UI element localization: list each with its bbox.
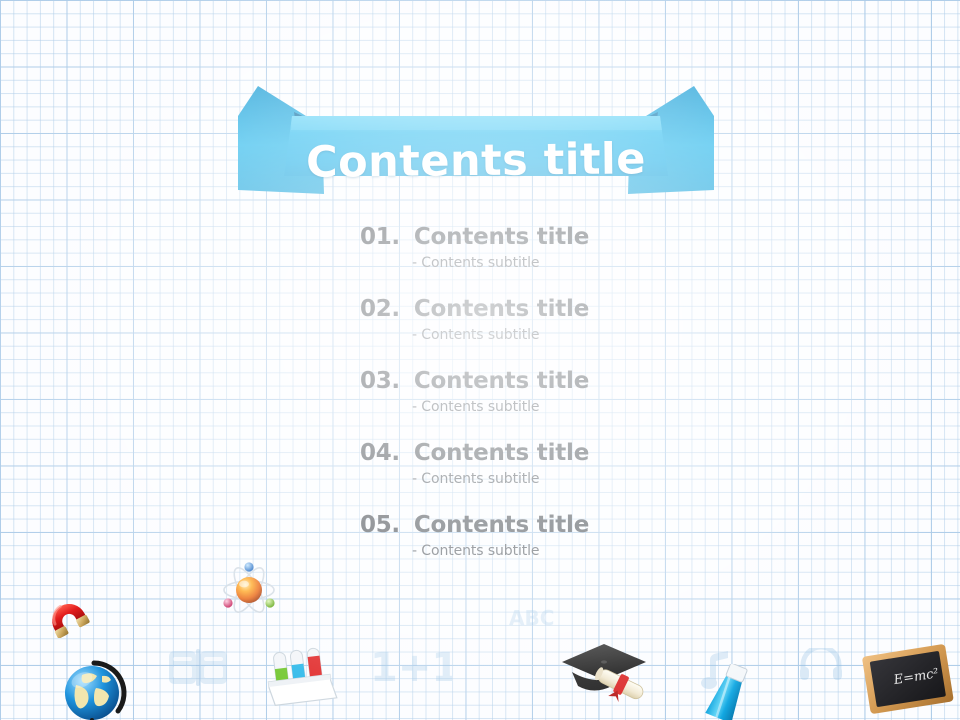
svg-text:1+1: 1+1 <box>370 645 452 691</box>
list-item[interactable]: 01. Contents title - Contents subtitle <box>360 224 780 271</box>
list-item-head: 01. Contents title <box>360 224 780 250</box>
list-item[interactable]: 04. Contents title - Contents subtitle <box>360 440 780 487</box>
list-item-subtitle: - Contents subtitle <box>412 471 780 487</box>
list-item-subtitle: - Contents subtitle <box>412 543 780 559</box>
list-item-title: Contents title <box>414 440 589 466</box>
ribbon-title: Contents title <box>235 95 716 225</box>
list-item-title: Contents title <box>414 296 589 322</box>
graduation-cap-icon <box>560 638 648 715</box>
list-item-subtitle: - Contents subtitle <box>412 255 780 271</box>
list-item[interactable]: 05. Contents title - Contents subtitle <box>360 512 780 559</box>
list-item-head: 05. Contents title <box>360 512 780 538</box>
svg-text:ABC: ABC <box>509 606 554 630</box>
list-item-number: 04. <box>360 440 400 466</box>
test-tubes-icon <box>264 644 338 715</box>
list-item-title: Contents title <box>414 224 589 250</box>
list-item-number: 05. <box>360 512 400 538</box>
list-item-title: Contents title <box>414 368 589 394</box>
list-item-head: 03. Contents title <box>360 368 780 394</box>
list-item[interactable]: 03. Contents title - Contents subtitle <box>360 368 780 415</box>
globe-icon <box>56 655 132 720</box>
list-item-number: 01. <box>360 224 400 250</box>
list-item-subtitle: - Contents subtitle <box>412 327 780 343</box>
list-item-number: 03. <box>360 368 400 394</box>
magnet-icon <box>36 588 94 643</box>
list-item-title: Contents title <box>414 512 589 538</box>
ribbon-banner: Contents title <box>236 78 716 203</box>
list-item[interactable]: 02. Contents title - Contents subtitle <box>360 296 780 343</box>
atom-icon <box>218 562 280 623</box>
contents-list: 01. Contents title - Contents subtitle 0… <box>360 224 780 559</box>
slide-canvas: 1+1 ABC <box>0 0 960 720</box>
abc-watermark-icon: ABC <box>508 605 556 636</box>
math-watermark-icon: 1+1 <box>368 645 452 696</box>
headphones-icon <box>800 648 842 685</box>
open-book-icon <box>168 645 228 696</box>
list-item-head: 04. Contents title <box>360 440 780 466</box>
list-item-number: 02. <box>360 296 400 322</box>
flask-icon <box>690 664 766 720</box>
list-item-head: 02. Contents title <box>360 296 780 322</box>
list-item-subtitle: - Contents subtitle <box>412 399 780 415</box>
blackboard-icon: E=mc² <box>862 644 954 720</box>
